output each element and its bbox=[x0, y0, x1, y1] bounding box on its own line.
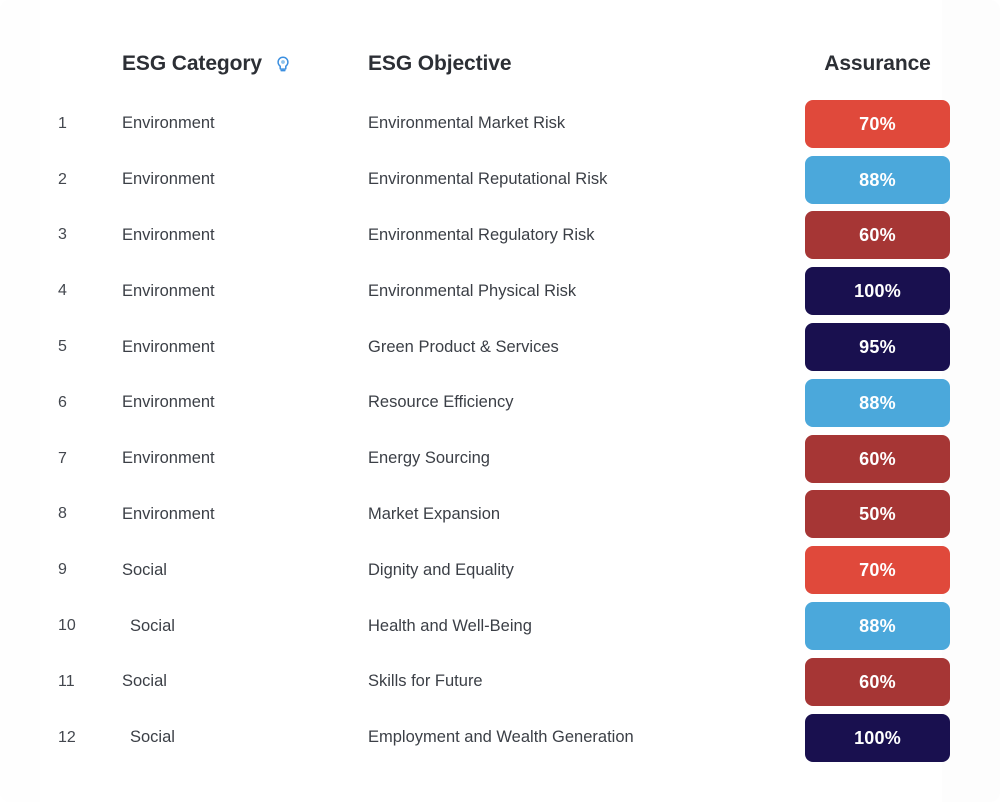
table-row[interactable]: 5EnvironmentGreen Product & Services95% bbox=[0, 319, 1000, 375]
table-row[interactable]: 3EnvironmentEnvironmental Regulatory Ris… bbox=[0, 208, 1000, 264]
cell-esg-objective: Environmental Physical Risk bbox=[360, 263, 755, 319]
esg-assurance-table: ESG Category ESG Objective bbox=[0, 0, 1000, 766]
cell-esg-category: Environment bbox=[110, 319, 360, 375]
cell-esg-category: Social bbox=[110, 542, 360, 598]
column-header-index-label bbox=[0, 76, 110, 96]
column-header-esg-objective-label: ESG Objective bbox=[360, 52, 755, 96]
cell-assurance: 95% bbox=[755, 319, 1000, 375]
cell-assurance: 50% bbox=[755, 487, 1000, 543]
assurance-badge[interactable]: 100% bbox=[805, 714, 950, 762]
cell-esg-category: Social bbox=[110, 598, 360, 654]
table-row[interactable]: 11SocialSkills for Future60% bbox=[0, 654, 1000, 710]
cell-esg-category: Environment bbox=[110, 487, 360, 543]
table-row[interactable]: 2EnvironmentEnvironmental Reputational R… bbox=[0, 152, 1000, 208]
row-index: 9 bbox=[0, 542, 110, 598]
assurance-badge[interactable]: 70% bbox=[805, 100, 950, 148]
cell-esg-objective: Environmental Market Risk bbox=[360, 96, 755, 152]
table-body: 1EnvironmentEnvironmental Market Risk70%… bbox=[0, 96, 1000, 766]
assurance-badge[interactable]: 88% bbox=[805, 379, 950, 427]
table-row[interactable]: 6EnvironmentResource Efficiency88% bbox=[0, 375, 1000, 431]
cell-assurance: 70% bbox=[755, 542, 1000, 598]
esg-assurance-card: ESG Category ESG Objective bbox=[0, 0, 1000, 802]
column-header-esg-category-label: ESG Category bbox=[122, 52, 262, 76]
row-index: 12 bbox=[0, 710, 110, 766]
assurance-badge[interactable]: 60% bbox=[805, 658, 950, 706]
assurance-badge[interactable]: 88% bbox=[805, 602, 950, 650]
row-index: 7 bbox=[0, 431, 110, 487]
row-index: 10 bbox=[0, 598, 110, 654]
cell-esg-objective: Energy Sourcing bbox=[360, 431, 755, 487]
cell-assurance: 100% bbox=[755, 263, 1000, 319]
assurance-badge[interactable]: 60% bbox=[805, 435, 950, 483]
column-header-esg-category[interactable]: ESG Category bbox=[110, 0, 360, 96]
assurance-badge[interactable]: 95% bbox=[805, 323, 950, 371]
cell-esg-objective: Health and Well-Being bbox=[360, 598, 755, 654]
row-index: 5 bbox=[0, 319, 110, 375]
row-index: 1 bbox=[0, 96, 110, 152]
assurance-badge[interactable]: 70% bbox=[805, 546, 950, 594]
cell-esg-objective: Environmental Regulatory Risk bbox=[360, 208, 755, 264]
cell-esg-category: Environment bbox=[110, 431, 360, 487]
cell-esg-objective: Skills for Future bbox=[360, 654, 755, 710]
cell-esg-category: Environment bbox=[110, 152, 360, 208]
table-header: ESG Category ESG Objective bbox=[0, 0, 1000, 96]
table-row[interactable]: 4EnvironmentEnvironmental Physical Risk1… bbox=[0, 263, 1000, 319]
assurance-badge[interactable]: 50% bbox=[805, 490, 950, 538]
cell-assurance: 60% bbox=[755, 431, 1000, 487]
table-row[interactable]: 8EnvironmentMarket Expansion50% bbox=[0, 487, 1000, 543]
assurance-badge[interactable]: 88% bbox=[805, 156, 950, 204]
assurance-badge[interactable]: 100% bbox=[805, 267, 950, 315]
cell-assurance: 60% bbox=[755, 654, 1000, 710]
table-row[interactable]: 7EnvironmentEnergy Sourcing60% bbox=[0, 431, 1000, 487]
table-row[interactable]: 1EnvironmentEnvironmental Market Risk70% bbox=[0, 96, 1000, 152]
cell-assurance: 88% bbox=[755, 598, 1000, 654]
column-header-assurance-label: Assurance bbox=[755, 52, 1000, 96]
table-row[interactable]: 12SocialEmployment and Wealth Generation… bbox=[0, 710, 1000, 766]
cell-assurance: 100% bbox=[755, 710, 1000, 766]
row-index: 3 bbox=[0, 208, 110, 264]
column-header-index bbox=[0, 0, 110, 96]
cell-assurance: 70% bbox=[755, 96, 1000, 152]
table-row[interactable]: 9SocialDignity and Equality70% bbox=[0, 542, 1000, 598]
cell-esg-category: Environment bbox=[110, 96, 360, 152]
header-row: ESG Category ESG Objective bbox=[0, 0, 1000, 96]
cell-esg-category: Environment bbox=[110, 375, 360, 431]
cell-esg-objective: Environmental Reputational Risk bbox=[360, 152, 755, 208]
cell-assurance: 60% bbox=[755, 208, 1000, 264]
cell-esg-objective: Employment and Wealth Generation bbox=[360, 710, 755, 766]
cell-esg-category: Social bbox=[110, 710, 360, 766]
info-hint-icon[interactable] bbox=[275, 55, 291, 73]
cell-esg-category: Environment bbox=[110, 263, 360, 319]
row-index: 2 bbox=[0, 152, 110, 208]
cell-assurance: 88% bbox=[755, 152, 1000, 208]
row-index: 11 bbox=[0, 654, 110, 710]
cell-esg-objective: Green Product & Services bbox=[360, 319, 755, 375]
row-index: 6 bbox=[0, 375, 110, 431]
cell-esg-objective: Market Expansion bbox=[360, 487, 755, 543]
cell-esg-category: Environment bbox=[110, 208, 360, 264]
table-row[interactable]: 10SocialHealth and Well-Being88% bbox=[0, 598, 1000, 654]
assurance-badge[interactable]: 60% bbox=[805, 211, 950, 259]
cell-esg-objective: Dignity and Equality bbox=[360, 542, 755, 598]
column-header-assurance[interactable]: Assurance bbox=[755, 0, 1000, 96]
cell-esg-objective: Resource Efficiency bbox=[360, 375, 755, 431]
cell-assurance: 88% bbox=[755, 375, 1000, 431]
row-index: 8 bbox=[0, 487, 110, 543]
column-header-esg-objective[interactable]: ESG Objective bbox=[360, 0, 755, 96]
row-index: 4 bbox=[0, 263, 110, 319]
cell-esg-category: Social bbox=[110, 654, 360, 710]
